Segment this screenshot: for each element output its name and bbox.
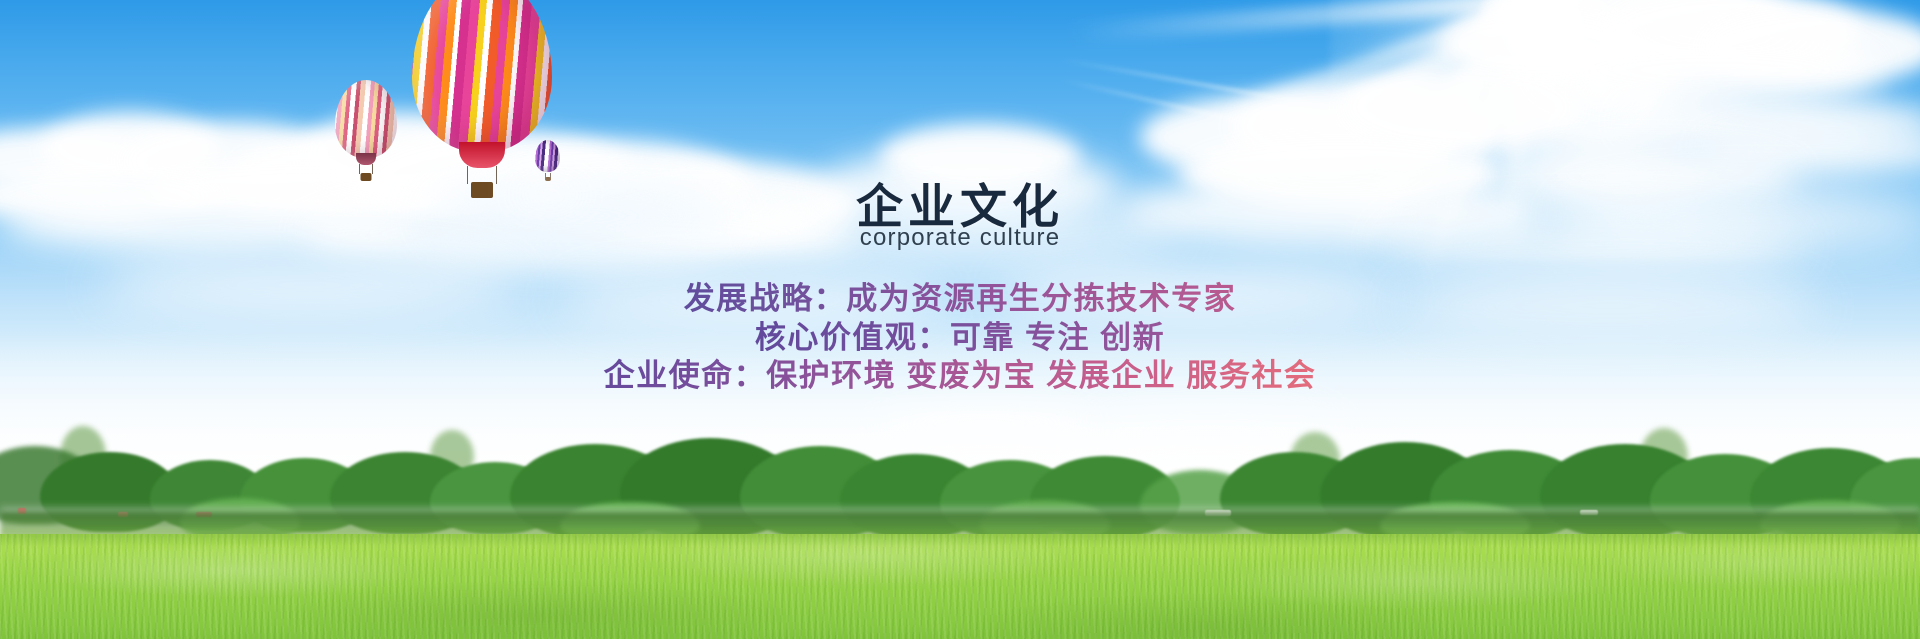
balloon-envelope	[535, 140, 560, 172]
grass-horizon-blend	[0, 530, 1920, 546]
distant-structure	[196, 512, 212, 517]
cloud	[1000, 266, 1400, 316]
hot-air-balloon-medium-icon	[335, 80, 397, 158]
shrub	[1380, 502, 1530, 544]
field-mist	[0, 508, 1920, 542]
distant-structure	[118, 512, 128, 517]
distant-structure	[18, 508, 26, 514]
shrub	[1760, 500, 1900, 544]
cloud	[1400, 282, 1820, 330]
cloud	[560, 276, 940, 324]
cloud	[1440, 10, 1640, 80]
cloud	[1080, 420, 1340, 448]
grass-texture	[0, 534, 1920, 639]
grass-field	[0, 534, 1920, 639]
distant-structure	[1205, 510, 1231, 516]
balloon-basket	[545, 177, 551, 181]
balloon-envelope	[412, 0, 552, 152]
corporate-culture-banner: 企业文化 corporate culture 发展战略：成为资源再生分拣技术专家…	[0, 0, 1920, 639]
shrub	[180, 498, 300, 542]
balloon-envelope	[335, 80, 397, 158]
shrub-row	[0, 512, 1920, 548]
cloud	[880, 408, 1090, 440]
distant-structure	[1580, 510, 1598, 515]
cloud	[760, 196, 1180, 266]
hot-air-balloon-large-icon	[412, 0, 552, 152]
cloud	[515, 186, 585, 202]
cloud	[1380, 216, 1800, 274]
shrub	[980, 500, 1110, 544]
cloud	[100, 258, 520, 312]
shrub	[560, 502, 700, 544]
balloon-basket	[361, 173, 372, 181]
cloud	[880, 124, 1080, 190]
hot-air-balloon-small-icon	[535, 140, 560, 172]
balloon-basket	[471, 182, 493, 198]
